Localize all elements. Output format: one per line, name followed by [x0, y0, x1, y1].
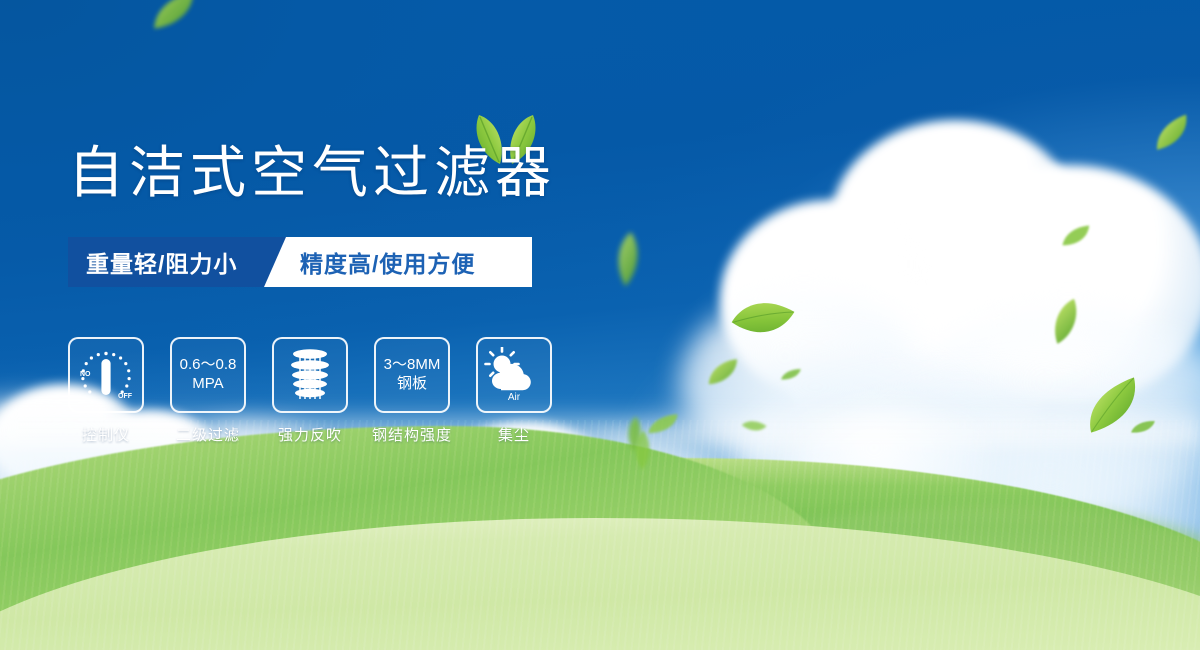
product-banner: 自洁式空气过滤器 重量轻/阻力小 精度高/使用方便	[0, 0, 1200, 650]
feature-icon-box: Air	[476, 337, 552, 413]
feature-label: 控制仪	[82, 424, 130, 445]
feature-item-dust[interactable]: Air 集尘	[476, 337, 552, 445]
feature-label: 强力反吹	[278, 424, 342, 445]
feature-icon-box: 0.6～0.8 MPA	[170, 337, 246, 413]
feature-list: NO OFF 控制仪 0.6～0.8 MPA 二级过滤	[68, 337, 552, 445]
subtitle-left-text: 重量轻/阻力小	[68, 245, 237, 279]
gauge-icon: NO OFF	[76, 346, 136, 404]
gauge-on-label: NO	[80, 371, 91, 378]
air-label: Air	[508, 392, 521, 403]
gauge-off-label: OFF	[118, 393, 133, 400]
filter-stack-icon	[284, 346, 336, 404]
feature-item-pressure[interactable]: 0.6～0.8 MPA 二级过滤	[170, 337, 246, 445]
subtitle-bar: 重量轻/阻力小 精度高/使用方便	[68, 237, 464, 287]
feature-icon-box: NO OFF	[68, 337, 144, 413]
steel-plate-text: 钢板	[397, 375, 427, 394]
pressure-range-text: 0.6～0.8	[180, 356, 237, 375]
feature-icon-box	[272, 337, 348, 413]
feature-label: 集尘	[498, 424, 530, 445]
steel-thickness-text: 3～8MM	[384, 356, 441, 375]
grass-texture	[0, 420, 1200, 650]
feature-item-control[interactable]: NO OFF 控制仪	[68, 337, 144, 445]
page-title: 自洁式空气过滤器	[68, 145, 556, 201]
feature-label: 钢结构强度	[372, 424, 452, 445]
feature-icon-box: 3～8MM 钢板	[374, 337, 450, 413]
feature-label: 二级过滤	[176, 424, 240, 445]
cloud-air-icon: Air	[484, 347, 544, 403]
pressure-unit-text: MPA	[192, 375, 223, 394]
subtitle-right-text: 精度高/使用方便	[300, 237, 475, 287]
feature-item-blowback[interactable]: 强力反吹	[272, 337, 348, 445]
grass-field	[0, 420, 1200, 650]
feature-item-steel[interactable]: 3～8MM 钢板 钢结构强度	[374, 337, 450, 445]
